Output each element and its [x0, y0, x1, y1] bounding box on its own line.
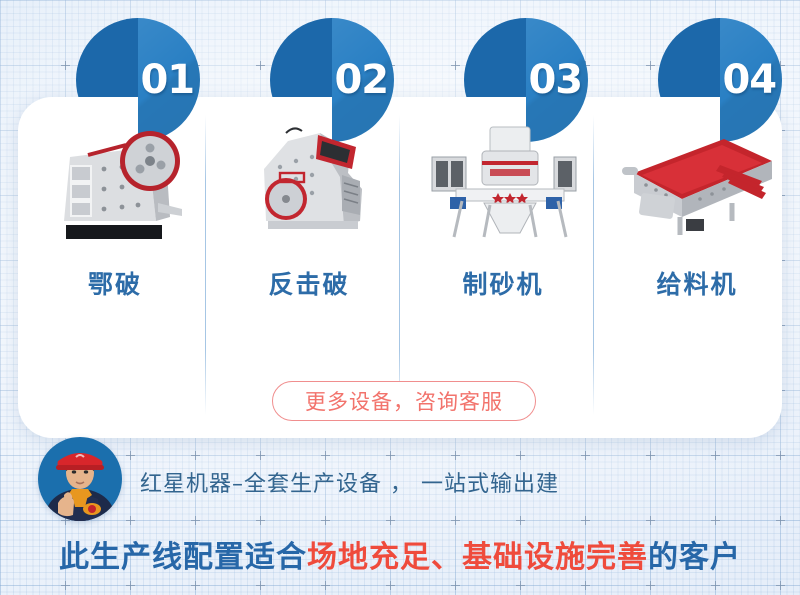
more-equipment-cta-button[interactable]: 更多设备，咨询客服: [272, 381, 536, 421]
grid-crosshair-icon: [321, 516, 330, 525]
headline-part-1: 此生产线配置适合: [59, 540, 307, 575]
grid-crosshair-icon: [451, 581, 460, 590]
grid-crosshair-icon: [516, 516, 525, 525]
cta-label: 更多设备，咨询客服: [305, 386, 503, 416]
headline-text: 此生产线配置适合场地充足、基础设施完善的客户: [0, 532, 800, 576]
badge-number: 04: [722, 60, 776, 100]
grid-crosshair-icon: [191, 581, 200, 590]
grid-crosshair-icon: [126, 581, 135, 590]
equipment-item-sand-maker[interactable]: 制砂机: [410, 112, 596, 301]
badge-number: 03: [528, 60, 582, 100]
grid-crosshair-icon: [776, 516, 785, 525]
equipment-label: 制砂机: [410, 265, 596, 301]
grid-crosshair-icon: [321, 581, 330, 590]
grid-crosshair-icon: [516, 581, 525, 590]
grid-crosshair-icon: [646, 581, 655, 590]
equipment-label: 鄂破: [22, 265, 208, 301]
grid-crosshair-icon: [386, 451, 395, 460]
grid-crosshair-icon: [581, 516, 590, 525]
avatar: [38, 437, 122, 521]
grid-crosshair-icon: [126, 516, 135, 525]
grid-crosshair-icon: [711, 451, 720, 460]
promo-poster: 01 02 03 04: [0, 0, 800, 595]
equipment-item-impact-crusher[interactable]: 反击破: [216, 112, 402, 301]
badge-number: 02: [334, 60, 388, 100]
tagline-text: 红星机器–全套生产设备 ， 一站式输出建: [140, 466, 559, 498]
grid-crosshair-icon: [61, 581, 70, 590]
equipment-label: 反击破: [216, 265, 402, 301]
grid-crosshair-icon: [451, 516, 460, 525]
grid-crosshair-icon: [581, 581, 590, 590]
grid-crosshair-icon: [386, 581, 395, 590]
equipment-label: 给料机: [604, 265, 790, 301]
vibrating-feeder-image: [604, 112, 790, 247]
grid-crosshair-icon: [191, 451, 200, 460]
grid-crosshair-icon: [646, 516, 655, 525]
grid-crosshair-icon: [256, 451, 265, 460]
grid-crosshair-icon: [256, 581, 265, 590]
equipment-item-feeder[interactable]: 给料机: [604, 112, 790, 301]
grid-crosshair-icon: [386, 516, 395, 525]
grid-crosshair-icon: [321, 451, 330, 460]
headline-part-2: 场地充足、基础设施完善: [307, 540, 648, 575]
impact-crusher-image: [216, 112, 402, 247]
badge-number: 01: [140, 60, 194, 100]
headline-part-3: 的客户: [648, 540, 741, 575]
grid-crosshair-icon: [646, 451, 655, 460]
jaw-crusher-image: [22, 112, 208, 247]
grid-crosshair-icon: [711, 581, 720, 590]
grid-crosshair-icon: [646, 61, 655, 70]
grid-crosshair-icon: [451, 61, 460, 70]
grid-crosshair-icon: [126, 451, 135, 460]
grid-crosshair-icon: [581, 451, 590, 460]
grid-crosshair-icon: [776, 451, 785, 460]
grid-crosshair-icon: [61, 61, 70, 70]
grid-crosshair-icon: [256, 516, 265, 525]
grid-crosshair-icon: [776, 581, 785, 590]
sand-making-machine-image: [410, 112, 596, 247]
grid-crosshair-icon: [191, 516, 200, 525]
grid-crosshair-icon: [451, 451, 460, 460]
grid-crosshair-icon: [256, 61, 265, 70]
equipment-item-jaw-crusher[interactable]: 鄂破: [22, 112, 208, 301]
grid-crosshair-icon: [711, 516, 720, 525]
grid-crosshair-icon: [516, 451, 525, 460]
